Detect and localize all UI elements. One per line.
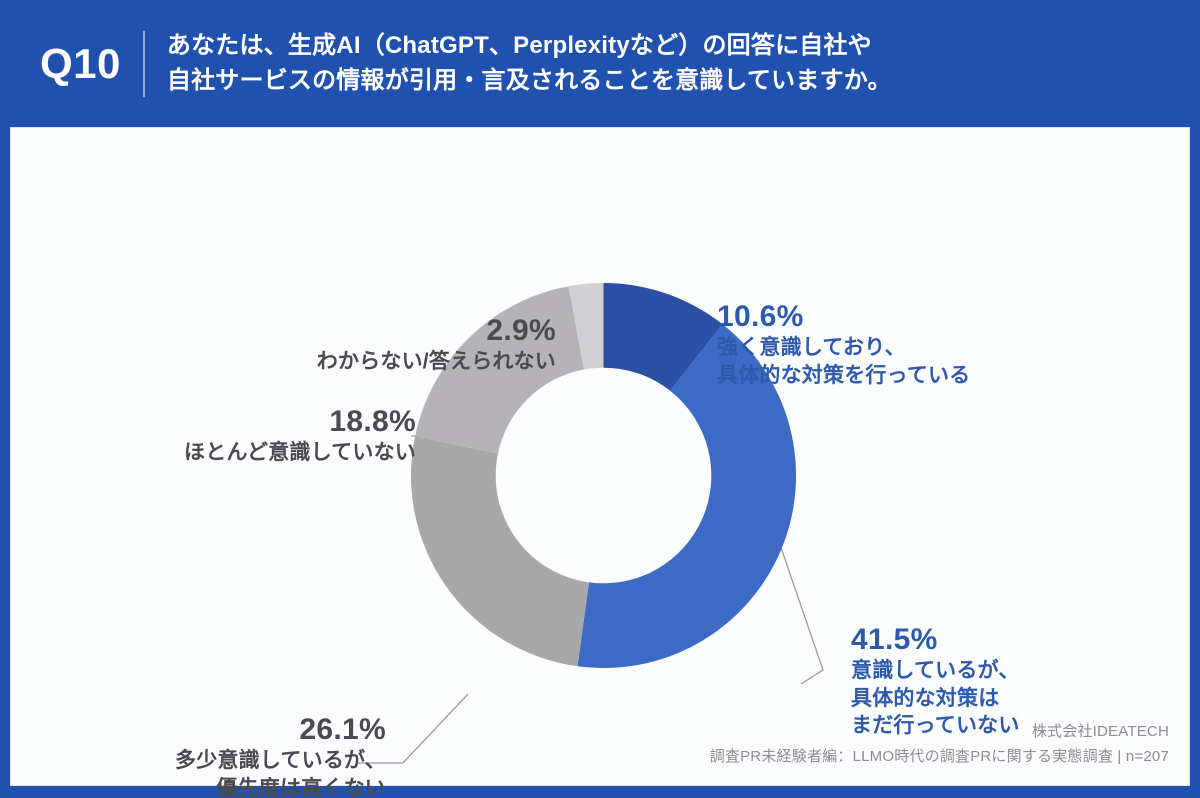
question-number: Q10 xyxy=(40,43,143,85)
callout-somewhat-pct: 26.1% xyxy=(175,713,386,747)
callout-strong-desc: 強く意識しており、 具体的な対策を行っている xyxy=(717,334,970,390)
callout-aware-line-2: 具体的な対策は xyxy=(851,685,1020,713)
callout-somewhat-desc: 多少意識しているが、 優先度は高くない xyxy=(175,747,386,798)
callout-barely-desc: ほとんど意識していない xyxy=(184,439,416,467)
chart-footer: 株式会社IDEATECH 調査PR未経験者編：LLMO時代の調査PRに関する実態… xyxy=(710,720,1169,769)
callout-aware-line-1: 意識しているが、 xyxy=(851,657,1020,685)
slide-root: Q10 あなたは、生成AI（ChatGPT、Perplexityなど）の回答に自… xyxy=(0,0,1200,798)
question-text: あなたは、生成AI（ChatGPT、Perplexityなど）の回答に自社や 自… xyxy=(145,29,892,97)
chart-card: 10.6% 強く意識しており、 具体的な対策を行っている 41.5% 意識してい… xyxy=(10,127,1190,786)
slide-header: Q10 あなたは、生成AI（ChatGPT、Perplexityなど）の回答に自… xyxy=(0,0,1200,127)
callout-unknown-line-1: わからない/答えられない xyxy=(317,348,556,376)
callout-strong-line-1: 強く意識しており、 xyxy=(717,334,970,362)
callout-unknown-desc: わからない/答えられない xyxy=(317,348,556,376)
callout-barely-line-1: ほとんど意識していない xyxy=(184,439,416,467)
donut-slice-somewhat xyxy=(411,436,589,666)
callout-strong-line-2: 具体的な対策を行っている xyxy=(717,362,970,390)
footer-source: 調査PR未経験者編：LLMO時代の調査PRに関する実態調査 | n=207 xyxy=(710,745,1169,769)
callout-strong-pct: 10.6% xyxy=(717,300,970,334)
footer-company: 株式会社IDEATECH xyxy=(710,720,1169,744)
question-line-2: 自社サービスの情報が引用・言及されることを意識していますか。 xyxy=(167,64,892,98)
question-line-1: あなたは、生成AI（ChatGPT、Perplexityなど）の回答に自社や xyxy=(167,29,892,63)
callout-aware-pct: 41.5% xyxy=(851,623,1020,657)
callout-strong: 10.6% 強く意識しており、 具体的な対策を行っている xyxy=(717,300,970,389)
callout-barely-pct: 18.8% xyxy=(184,405,416,439)
callout-unknown: 2.9% わからない/答えられない xyxy=(317,314,556,376)
callout-somewhat-line-2: 優先度は高くない xyxy=(175,775,386,798)
chart-area: 10.6% 強く意識しており、 具体的な対策を行っている 41.5% 意識してい… xyxy=(11,128,1191,787)
callout-somewhat-line-1: 多少意識しているが、 xyxy=(175,747,386,775)
callout-somewhat: 26.1% 多少意識しているが、 優先度は高くない xyxy=(175,713,386,798)
callout-barely: 18.8% ほとんど意識していない xyxy=(184,405,416,467)
callout-unknown-pct: 2.9% xyxy=(317,314,556,348)
